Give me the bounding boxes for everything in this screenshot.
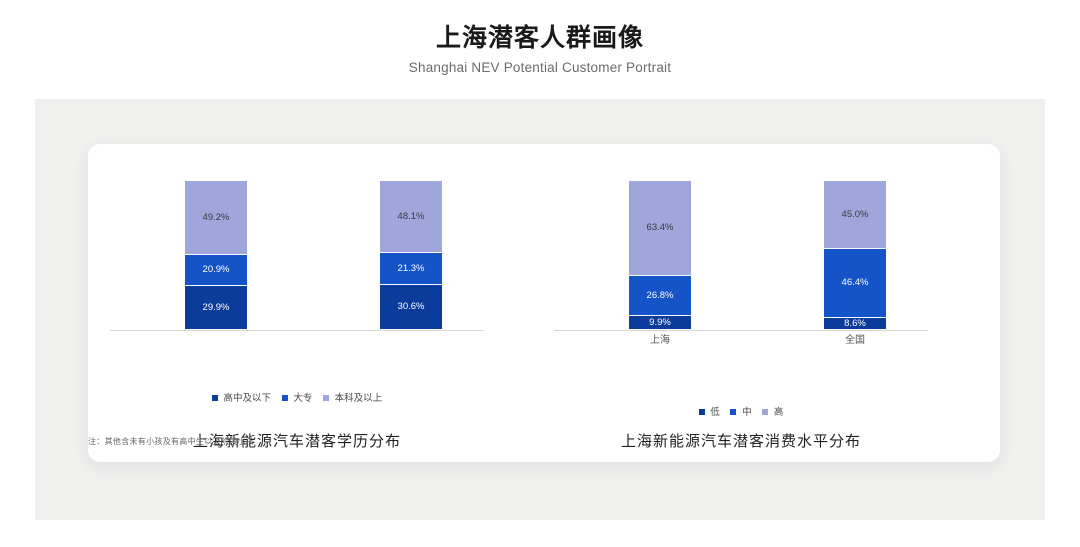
page-title-cn: 上海潜客人群画像 [0,22,1080,54]
slide-header: 上海潜客人群画像 Shanghai NEV Potential Customer… [0,22,1080,78]
legend-label: 中 [742,407,752,418]
legend-swatch-icon [762,409,768,415]
stacked-bar-education-2[interactable]: 48.1% 21.3% 30.6% [379,180,443,330]
legend-label: 大专 [293,393,312,404]
bar-segment-high: 49.2% [184,180,248,254]
x-axis-tick-labels: 上海 全国 [546,334,936,350]
bar-segment-low: 30.6% [379,284,443,330]
legend-label: 高 [774,407,784,418]
bar-segment-mid: 20.9% [184,254,248,285]
legend-label: 高中及以下 [224,393,272,404]
x-axis-line [110,330,484,331]
legend-item[interactable]: 高 [762,407,783,420]
legend-swatch-icon [730,409,736,415]
stacked-bar-consumption-national[interactable]: 45.0% 46.4% 8.6% [823,180,887,330]
legend-label: 低 [710,407,720,418]
legend-item[interactable]: 低 [699,407,720,420]
legend-education: 高中及以下 大专 本科及以上 [102,393,492,406]
bar-segment-high: 45.0% [823,180,887,248]
slide-page: 上海潜客人群画像 Shanghai NEV Potential Customer… [0,0,1080,547]
legend-swatch-icon [212,395,218,401]
bar-segment-mid: 26.8% [628,275,692,315]
x-tick-label: 全国 [823,334,887,348]
legend-consumption: 低 中 高 [546,407,936,420]
chart-education: 49.2% 20.9% 29.9% 48.1% 21.3% 30.6% [102,144,492,462]
bar-segment-high: 63.4% [628,180,692,275]
legend-swatch-icon [282,395,288,401]
bar-segment-low: 9.9% [628,315,692,330]
legend-swatch-icon [699,409,705,415]
plot-area-consumption: 63.4% 26.8% 9.9% 45.0% 46.4% 8.6% [546,180,936,330]
bar-segment-mid: 46.4% [823,248,887,318]
legend-swatch-icon [323,395,329,401]
bar-segment-high: 48.1% [379,180,443,252]
x-axis-line [554,330,928,331]
page-subtitle-en: Shanghai NEV Potential Customer Portrait [0,58,1080,78]
legend-label: 本科及以上 [335,393,383,404]
bar-segment-low: 8.6% [823,317,887,330]
legend-item[interactable]: 中 [730,407,751,420]
stacked-bar-consumption-shanghai[interactable]: 63.4% 26.8% 9.9% [628,180,692,330]
plot-area-education: 49.2% 20.9% 29.9% 48.1% 21.3% 30.6% [102,180,492,330]
bar-segment-low: 29.9% [184,285,248,330]
chart-consumption: 63.4% 26.8% 9.9% 45.0% 46.4% 8.6% 上海 全国 [546,144,936,462]
charts-card: 49.2% 20.9% 29.9% 48.1% 21.3% 30.6% [88,144,1000,462]
bar-segment-mid: 21.3% [379,252,443,284]
footnote: 注：其他含未有小孩及有高中生以上阶段小孩 [88,436,588,448]
stacked-bar-education-1[interactable]: 49.2% 20.9% 29.9% [184,180,248,330]
chart-caption-consumption: 上海新能源汽车潜客消费水平分布 [546,432,936,452]
legend-item[interactable]: 本科及以上 [323,393,382,406]
charts-row: 49.2% 20.9% 29.9% 48.1% 21.3% 30.6% [88,144,1000,462]
legend-item[interactable]: 高中及以下 [212,393,271,406]
x-axis-tick-labels [102,370,492,386]
x-tick-label: 上海 [628,334,692,348]
legend-item[interactable]: 大专 [282,393,313,406]
